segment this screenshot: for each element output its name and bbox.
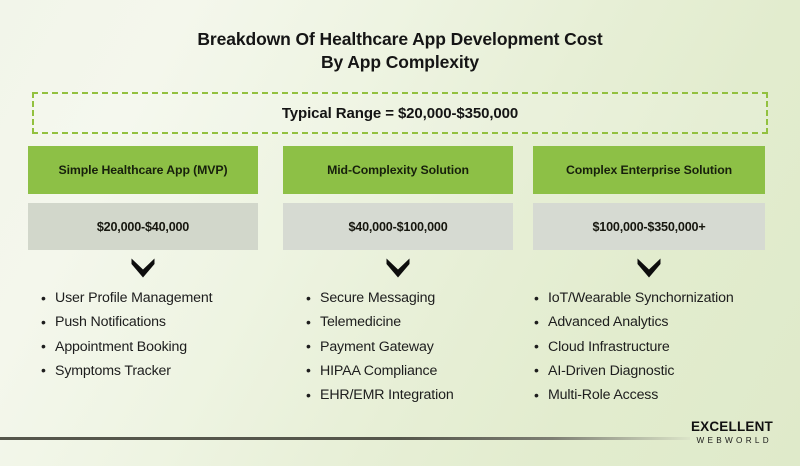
feature-list: User Profile Management Push Notificatio… bbox=[40, 286, 258, 383]
list-item: Appointment Booking bbox=[40, 335, 258, 359]
column-header-box: Mid-Complexity Solution bbox=[283, 146, 513, 194]
typical-range-box: Typical Range = $20,000-$350,000 bbox=[32, 92, 768, 134]
list-item: Advanced Analytics bbox=[533, 310, 765, 334]
list-item: Secure Messaging bbox=[305, 286, 513, 310]
brand-logo: EXCELLENT WEBWORLD bbox=[691, 420, 773, 445]
list-item: IoT/Wearable Synchornization bbox=[533, 286, 765, 310]
column-heading-label: Complex Enterprise Solution bbox=[566, 163, 732, 177]
column-price-label: $20,000-$40,000 bbox=[97, 220, 189, 234]
column-heading-label: Mid-Complexity Solution bbox=[327, 163, 469, 177]
column-price-box: $100,000-$350,000+ bbox=[533, 203, 765, 250]
column-header-box: Complex Enterprise Solution bbox=[533, 146, 765, 194]
title-line-1: Breakdown Of Healthcare App Development … bbox=[0, 28, 800, 51]
chevron-down-icon bbox=[283, 250, 513, 286]
list-item: Cloud Infrastructure bbox=[533, 335, 765, 359]
list-item: Symptoms Tracker bbox=[40, 359, 258, 383]
list-item: User Profile Management bbox=[40, 286, 258, 310]
column-price-box: $20,000-$40,000 bbox=[28, 203, 258, 250]
column-heading-label: Simple Healthcare App (MVP) bbox=[58, 163, 227, 177]
list-item: AI-Driven Diagnostic bbox=[533, 359, 765, 383]
column-complex-enterprise-solution: Complex Enterprise Solution $100,000-$35… bbox=[533, 146, 765, 407]
infographic-canvas: Breakdown Of Healthcare App Development … bbox=[0, 0, 800, 466]
list-item: Multi-Role Access bbox=[533, 383, 765, 407]
column-header-box: Simple Healthcare App (MVP) bbox=[28, 146, 258, 194]
page-title: Breakdown Of Healthcare App Development … bbox=[0, 28, 800, 74]
column-price-box: $40,000-$100,000 bbox=[283, 203, 513, 250]
column-price-label: $100,000-$350,000+ bbox=[592, 220, 705, 234]
column-mid-complexity-solution: Mid-Complexity Solution $40,000-$100,000… bbox=[283, 146, 513, 407]
typical-range-label: Typical Range = $20,000-$350,000 bbox=[282, 105, 518, 122]
footer-divider bbox=[0, 437, 690, 440]
list-item: Telemedicine bbox=[305, 310, 513, 334]
chevron-down-icon bbox=[533, 250, 765, 286]
title-line-2: By App Complexity bbox=[0, 51, 800, 74]
list-item: HIPAA Compliance bbox=[305, 359, 513, 383]
column-simple-healthcare-app: Simple Healthcare App (MVP) $20,000-$40,… bbox=[28, 146, 258, 383]
logo-secondary-text: WEBWORLD bbox=[691, 437, 772, 445]
chevron-down-icon bbox=[28, 250, 258, 286]
logo-primary-text: EXCELLENT bbox=[691, 420, 773, 434]
feature-list: Secure Messaging Telemedicine Payment Ga… bbox=[305, 286, 513, 407]
column-price-label: $40,000-$100,000 bbox=[348, 220, 447, 234]
list-item: Payment Gateway bbox=[305, 335, 513, 359]
list-item: Push Notifications bbox=[40, 310, 258, 334]
feature-list: IoT/Wearable Synchornization Advanced An… bbox=[533, 286, 765, 407]
list-item: EHR/EMR Integration bbox=[305, 383, 513, 407]
